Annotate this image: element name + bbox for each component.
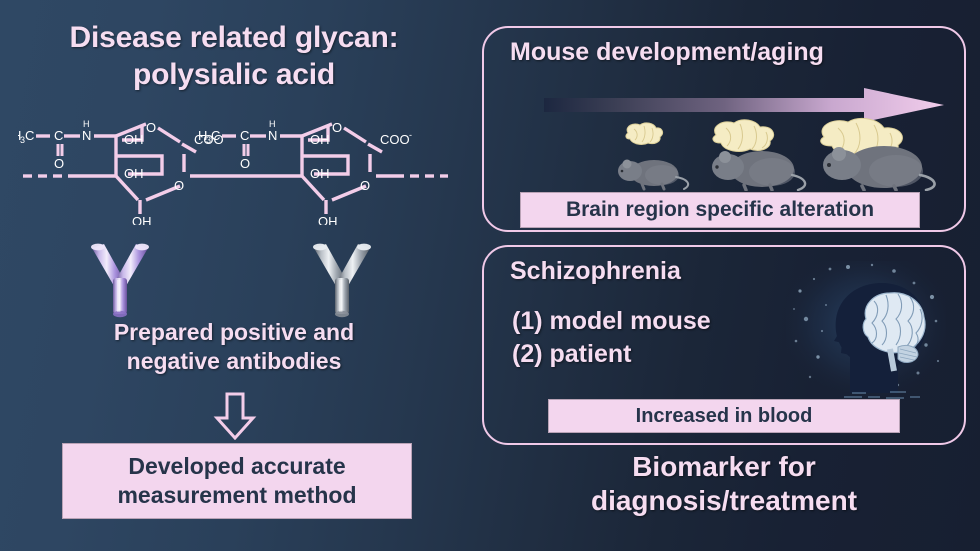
amide-nitrogen-label: N — [82, 128, 91, 143]
developed-method-line-1: Developed accurate — [117, 452, 356, 481]
aged-mouse-with-brain — [804, 117, 942, 191]
negative-antibody-icon — [310, 240, 374, 318]
biomarker-conclusion-line-2: diagnosis/treatment — [482, 484, 966, 518]
adult-mouse-with-brain — [694, 117, 812, 191]
carbonyl-oxygen-label: O — [54, 156, 64, 171]
amide-nitrogen-label-2: N — [268, 128, 277, 143]
brain-alteration-label: Brain region specific alteration — [566, 198, 874, 222]
antibody-caption-line-1: Prepared positive and — [10, 318, 458, 347]
developed-method-box: Developed accurate measurement method — [62, 443, 412, 519]
hydroxyl-upper-label-2: OH — [310, 132, 330, 147]
carboxylate-label-2: COO — [380, 132, 410, 147]
increased-in-blood-label: Increased in blood — [636, 405, 813, 428]
brain-alteration-result-box: Brain region specific alteration — [520, 192, 920, 228]
brain-medium — [713, 120, 774, 152]
left-column: Disease related glycan: polysialic acid … — [0, 0, 468, 551]
ring-oxygen-label: O — [146, 120, 156, 135]
mouse-body-small — [618, 160, 688, 190]
mouse-body-medium — [712, 151, 805, 190]
developed-method-label: Developed accurate measurement method — [117, 452, 356, 510]
polysialic-acid-structure: .bond { stroke:#f3cde9; stroke-width:3.4… — [18, 100, 448, 225]
glycosidic-oxygen-label-2: O — [360, 178, 370, 193]
carbonyl-carbon-label-2: C — [240, 128, 249, 143]
hydroxyl-lower-label-2: OH — [310, 166, 330, 181]
schizophrenia-item-list: (1) model mouse (2) patient — [512, 305, 711, 371]
amide-hydrogen-label-2: H — [269, 119, 276, 129]
page-title-line-2: polysialic acid — [10, 57, 458, 94]
page-title-line-1: Disease related glycan: — [10, 20, 458, 57]
antibody-caption-line-2: negative antibodies — [10, 347, 458, 376]
brain-small — [626, 123, 663, 145]
hydroxyl-upper-label: OH — [124, 132, 144, 147]
amide-hydrogen-label: H — [83, 119, 90, 129]
sialic-acid-unit-2: O O N H C O H 3 C OH OH OH — [198, 119, 412, 225]
increased-in-blood-result-box: Increased in blood — [548, 399, 900, 433]
ring-oxygen-label-2: O — [332, 120, 342, 135]
mouse-development-panel: Mouse development/aging — [482, 26, 966, 232]
sialic-acid-unit-1: O O N H C O H 3 C OH — [18, 119, 226, 225]
schizophrenia-panel: Schizophrenia (1) model mouse (2) patien… — [482, 245, 966, 445]
hydroxyl-bottom-label-2: OH — [318, 214, 338, 225]
mice-series — [504, 116, 954, 191]
antibody-row — [10, 240, 458, 320]
biomarker-conclusion-line-1: Biomarker for — [482, 450, 966, 484]
human-head-brain-icon — [786, 261, 946, 401]
methyl-carbon-label: C — [25, 128, 34, 143]
carbonyl-oxygen-label-2: O — [240, 156, 250, 171]
glycosidic-oxygen-label: O — [174, 178, 184, 193]
young-mouse-with-brain — [604, 117, 696, 191]
antibody-caption: Prepared positive and negative antibodie… — [10, 318, 458, 376]
schizophrenia-panel-title: Schizophrenia — [510, 257, 681, 286]
hydroxyl-bottom-label: OH — [132, 214, 152, 225]
carbonyl-carbon-label: C — [54, 128, 63, 143]
developed-method-line-2: measurement method — [117, 481, 356, 510]
graphical-abstract: Disease related glycan: polysialic acid … — [0, 0, 980, 551]
mouse-body-large — [823, 146, 935, 190]
down-arrow-icon — [213, 392, 257, 440]
page-title: Disease related glycan: polysialic acid — [10, 20, 458, 93]
biomarker-conclusion: Biomarker for diagnosis/treatment — [482, 450, 966, 517]
carboxylate-charge-2: - — [409, 130, 412, 140]
mouse-panel-title: Mouse development/aging — [510, 38, 824, 67]
schizophrenia-item-1: (1) model mouse — [512, 305, 711, 338]
positive-antibody-icon — [88, 240, 152, 318]
schizophrenia-item-2: (2) patient — [512, 338, 711, 371]
right-column: Mouse development/aging — [470, 0, 980, 551]
methyl-carbon-label-2: C — [211, 128, 220, 143]
hydroxyl-lower-label: OH — [124, 166, 144, 181]
